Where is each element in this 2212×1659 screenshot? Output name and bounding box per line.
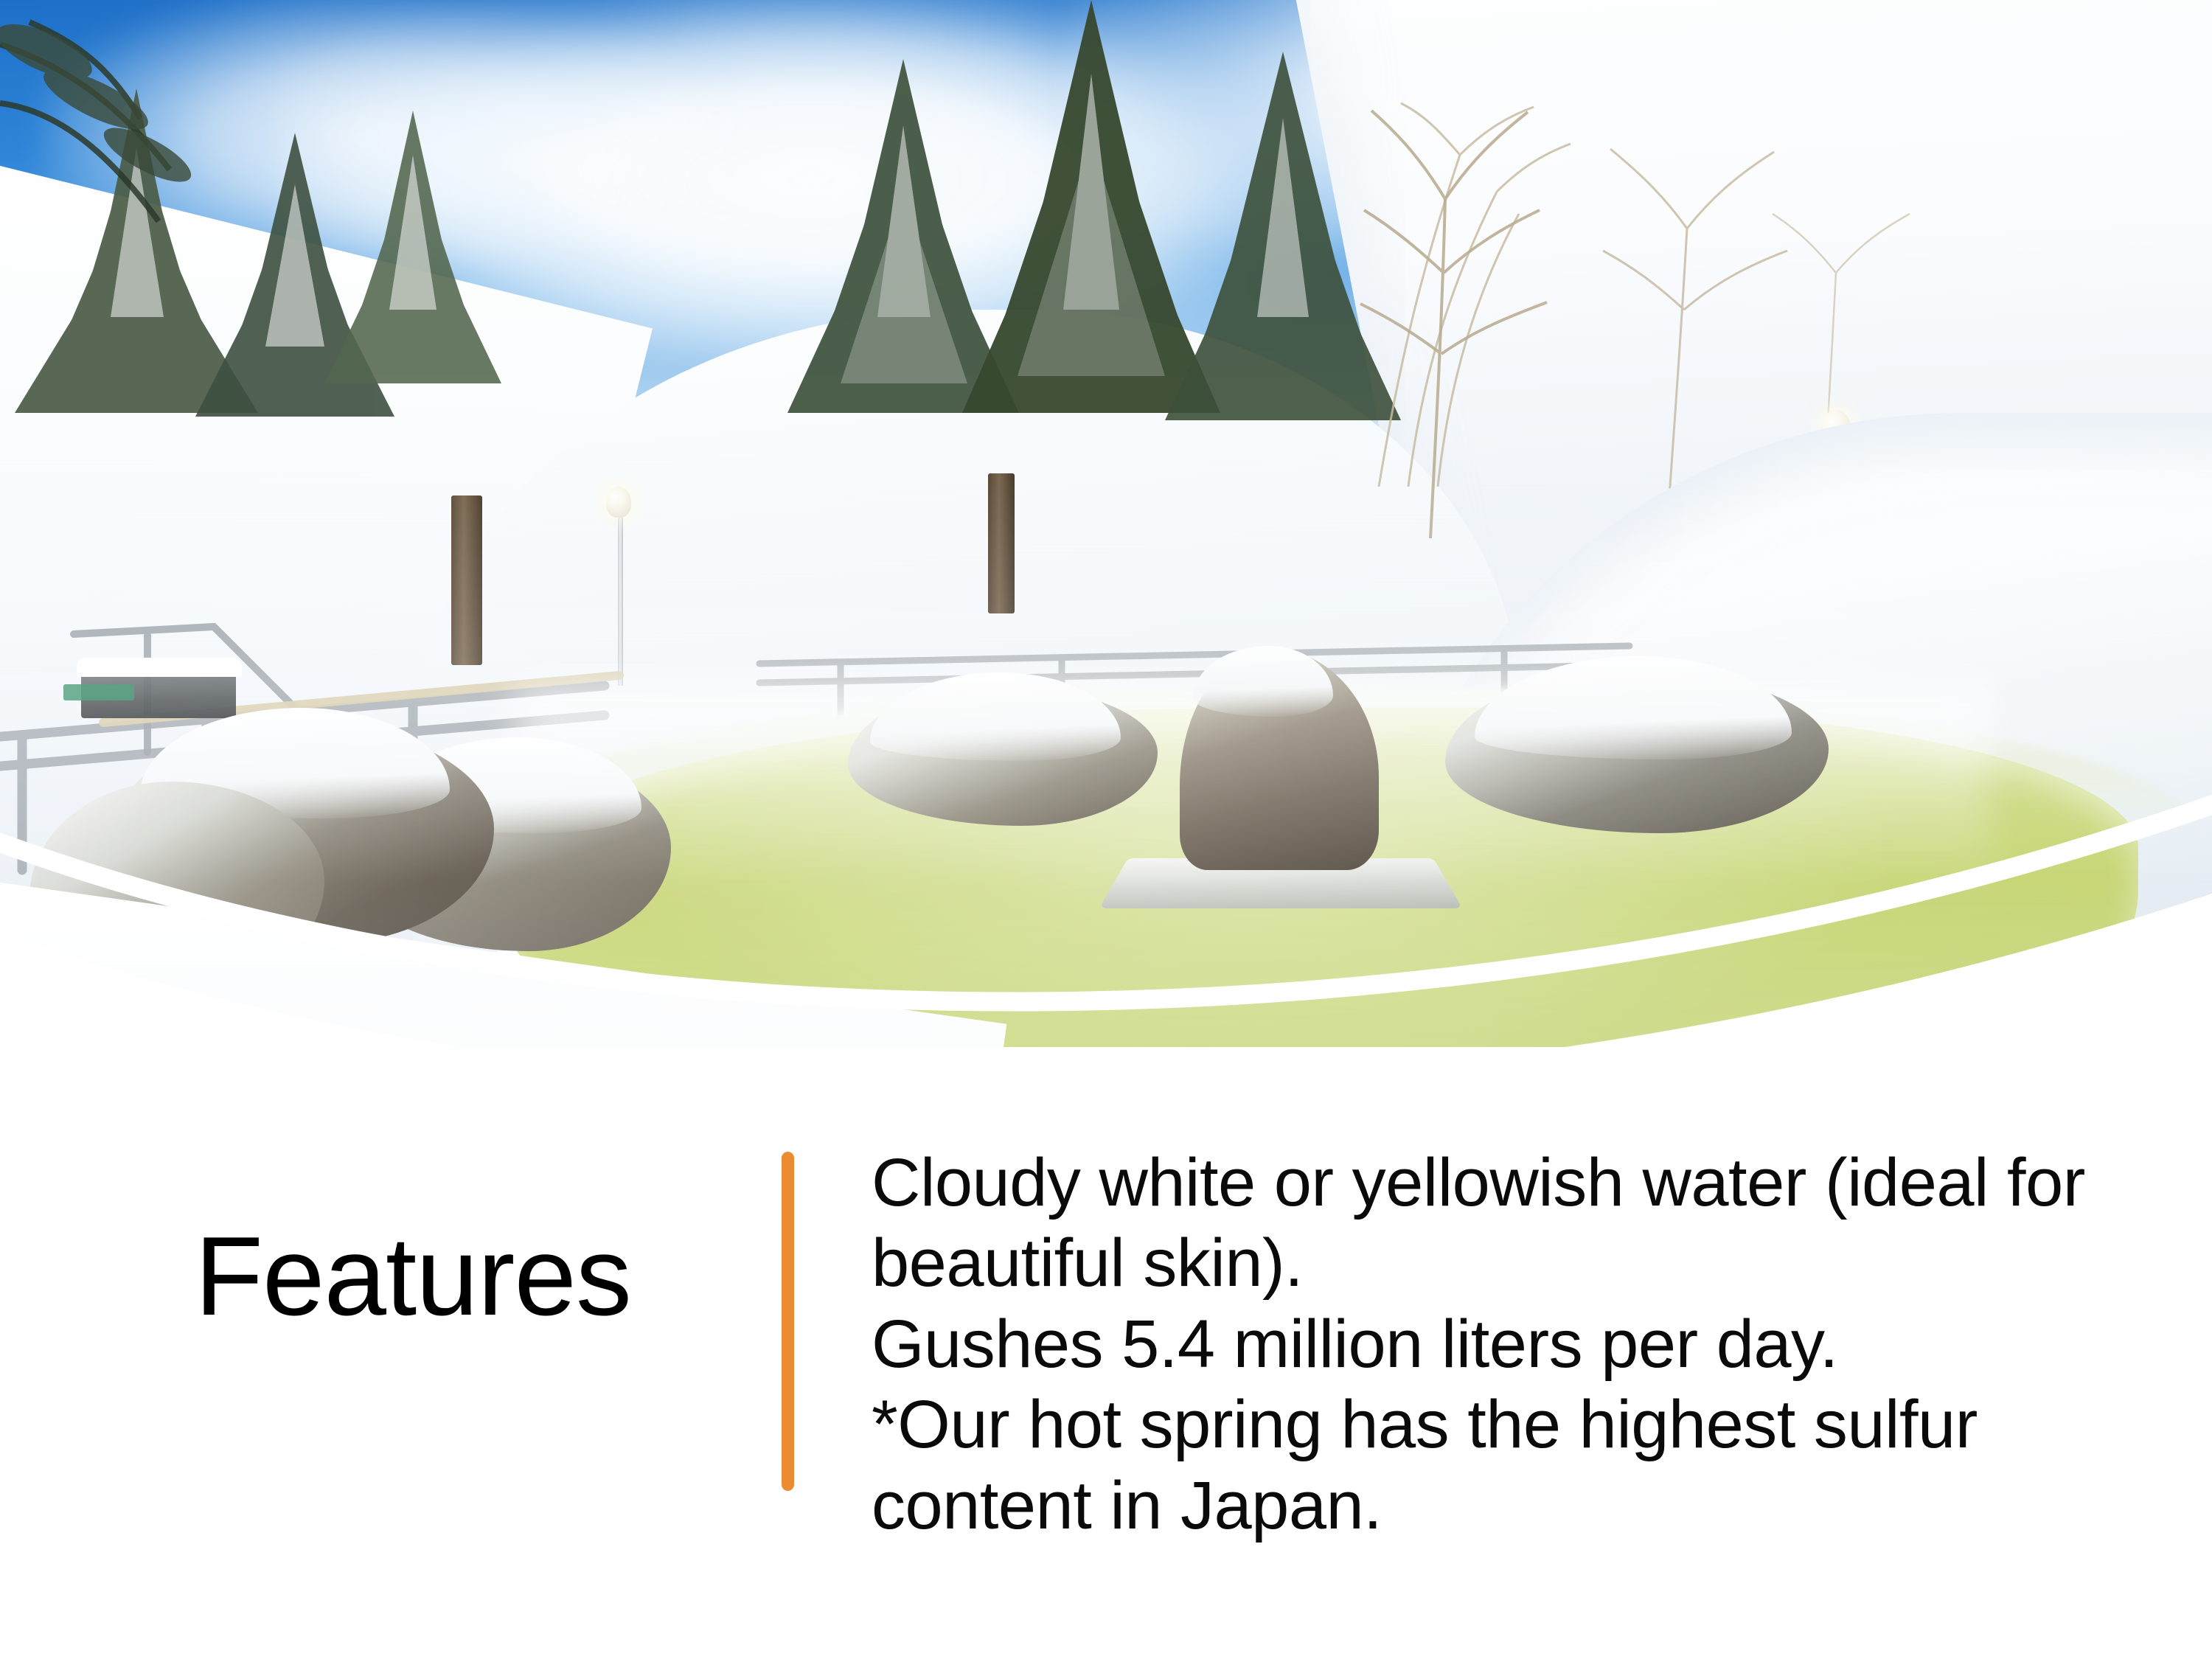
orange-accent-bar	[782, 1152, 794, 1491]
signboard-snow-cap	[77, 658, 242, 677]
photo-scene	[0, 0, 2212, 1047]
wooden-marker-post	[451, 495, 482, 665]
slide-canvas: Features Cloudy white or yellowish water…	[0, 0, 2212, 1659]
body-line-3: Gushes 5.4 million liters per day.	[872, 1304, 2169, 1385]
green-sign-accent	[63, 684, 134, 700]
body-line-4: *Our hot spring has the highest sulfur	[872, 1385, 2169, 1465]
hero-photo	[0, 0, 2212, 1047]
body-line-2: beautiful skin).	[872, 1223, 2169, 1304]
content-area: Features Cloudy white or yellowish water…	[0, 1062, 2212, 1659]
wooden-marker-post-2	[988, 473, 1015, 613]
title-block: Features	[88, 1220, 737, 1332]
lamp-post-left-head	[606, 487, 631, 518]
body-line-5: content in Japan.	[872, 1466, 2169, 1546]
body-line-1: Cloudy white or yellowish water (ideal f…	[872, 1143, 2169, 1223]
body-text-block: Cloudy white or yellowish water (ideal f…	[872, 1143, 2169, 1546]
page-title: Features	[88, 1220, 737, 1332]
conifer-forest-left	[0, 0, 885, 531]
